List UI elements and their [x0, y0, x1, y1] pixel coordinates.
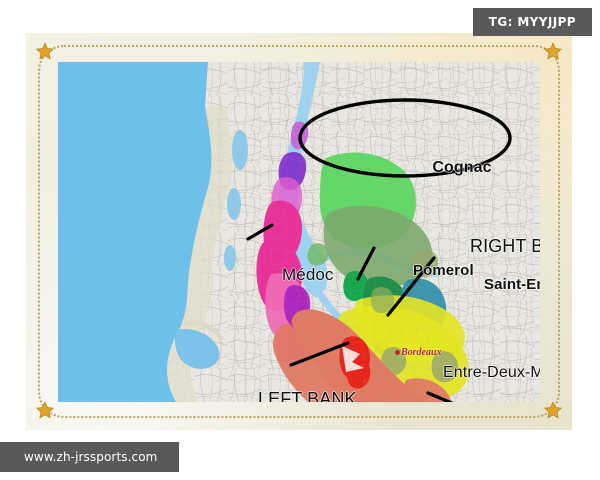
corner-star-icon-top-left: [35, 42, 55, 62]
bordeaux-city-marker-icon: [395, 350, 400, 355]
map-label-pomerol: Pomerol: [413, 262, 474, 279]
corner-star-icon-top-right: [543, 42, 563, 62]
website-watermark: www.zh-jrssports.com: [0, 442, 179, 472]
map-label-bordeaux-city: Bordeaux: [401, 347, 442, 358]
decorative-paper-frame: Cognac RIGHT BANK Médoc Pomerol Saint-Em…: [26, 33, 572, 430]
map-label-cognac: Cognac: [432, 159, 491, 177]
telegram-watermark: TG: MYYJJPP: [473, 8, 592, 36]
bordeaux-wine-region-map: Cognac RIGHT BANK Médoc Pomerol Saint-Em…: [58, 62, 540, 402]
map-label-saint-emilion: Saint-Emilion: [484, 276, 540, 293]
corner-star-icon-bottom-right: [543, 401, 563, 421]
map-label-medoc: Médoc: [282, 265, 334, 285]
map-label-left-bank: LEFT BANK: [258, 389, 357, 402]
map-graphic: [58, 62, 540, 402]
corner-star-icon-bottom-left: [35, 401, 55, 421]
map-label-entre-deux-mers: Entre-Deux-Mers: [443, 364, 540, 382]
map-label-right-bank: RIGHT BANK: [470, 236, 540, 257]
